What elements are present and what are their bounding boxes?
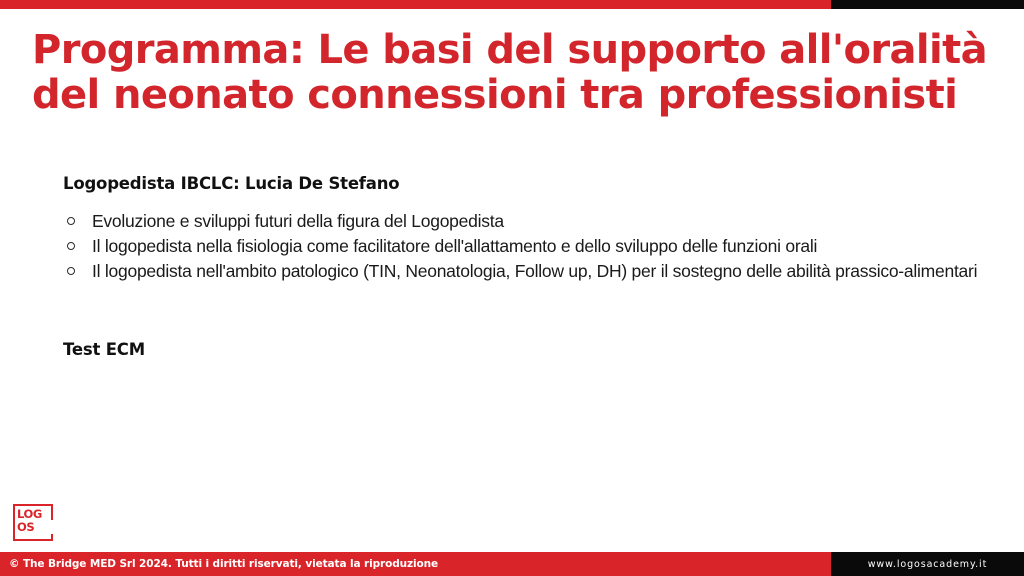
hollow-circle-bullet-icon bbox=[67, 242, 75, 250]
list-item-text: Il logopedista nella fisiologia come fac… bbox=[92, 236, 817, 256]
list-item-text: Il logopedista nell'ambito patologico (T… bbox=[92, 261, 977, 281]
hollow-circle-bullet-icon bbox=[67, 217, 75, 225]
footer-copyright-segment: © The Bridge MED Srl 2024. Tutti i dirit… bbox=[0, 552, 831, 576]
test-ecm-heading: Test ECM bbox=[63, 339, 993, 361]
page-title: Programma: Le basi del supporto all'oral… bbox=[32, 28, 992, 118]
top-accent-bar bbox=[0, 0, 1024, 9]
footer-website-text: www.logosacademy.it bbox=[868, 559, 987, 570]
top-accent-bar-black-segment bbox=[831, 0, 1024, 9]
footer-website-segment: www.logosacademy.it bbox=[831, 552, 1024, 576]
footer-bar: © The Bridge MED Srl 2024. Tutti i dirit… bbox=[0, 552, 1024, 576]
hollow-circle-bullet-icon bbox=[67, 267, 75, 275]
top-accent-bar-red-segment bbox=[0, 0, 831, 9]
logo-wordmark: LOG OS bbox=[17, 508, 42, 534]
program-bullet-list: Evoluzione e sviluppi futuri della figur… bbox=[63, 209, 993, 283]
list-item-text: Evoluzione e sviluppi futuri della figur… bbox=[92, 211, 504, 231]
footer-copyright-text: © The Bridge MED Srl 2024. Tutti i dirit… bbox=[0, 558, 438, 570]
list-item: Il logopedista nella fisiologia come fac… bbox=[63, 234, 993, 258]
logos-logo: LOG OS bbox=[13, 504, 53, 541]
logo-frame-notch bbox=[50, 520, 55, 534]
list-item: Evoluzione e sviluppi futuri della figur… bbox=[63, 209, 993, 233]
list-item: Il logopedista nell'ambito patologico (T… bbox=[63, 259, 993, 283]
content-block: Logopedista IBCLC: Lucia De Stefano Evol… bbox=[63, 173, 993, 361]
slide-canvas: Programma: Le basi del supporto all'oral… bbox=[0, 0, 1024, 576]
speaker-heading: Logopedista IBCLC: Lucia De Stefano bbox=[63, 173, 993, 195]
